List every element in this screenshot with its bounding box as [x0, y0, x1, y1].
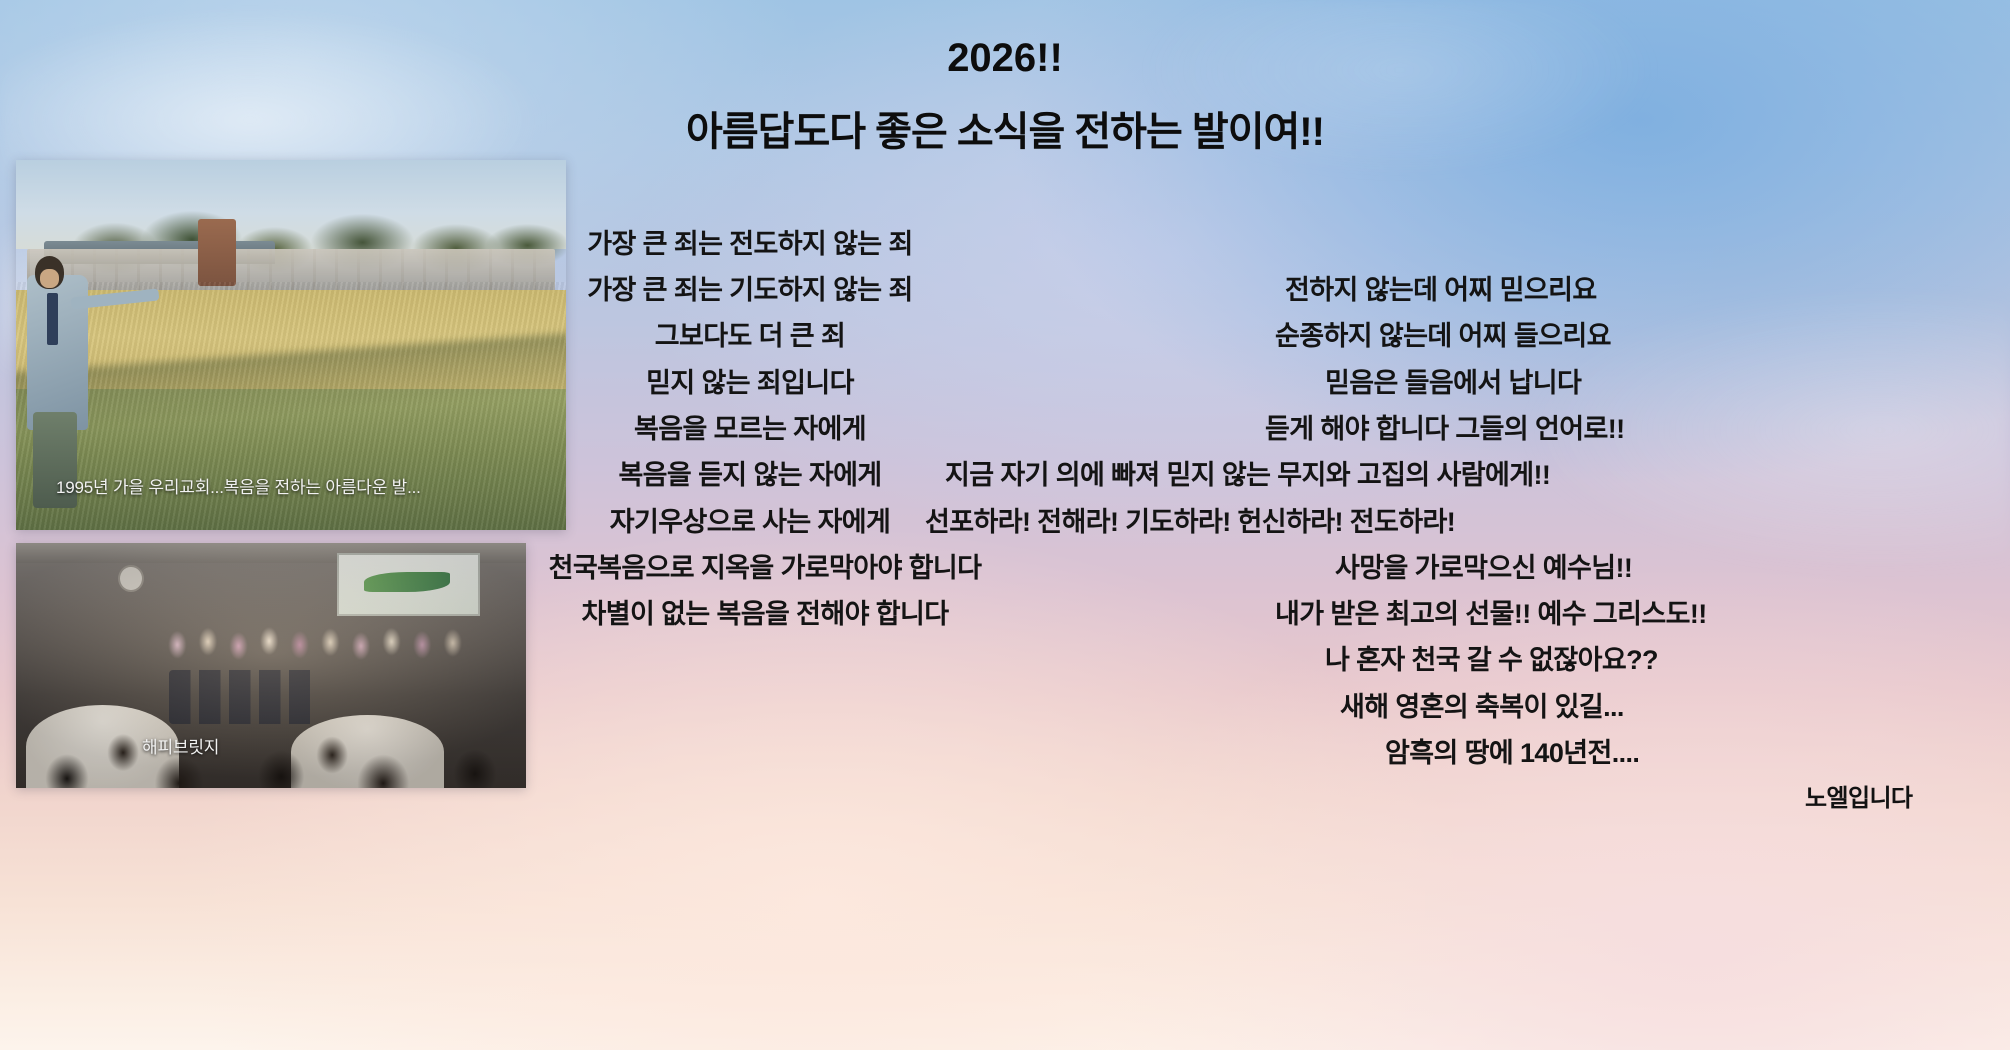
- poster-title: 2026!!: [0, 36, 2010, 81]
- left-line-7: 자기우상으로 사는 자에게: [610, 500, 890, 539]
- right-line-4: 듣게 해야 합니다 그들의 언어로!!: [1265, 407, 1625, 446]
- right-line-2: 순종하지 않는데 어찌 들으리요: [1275, 314, 1611, 353]
- left-line-4: 믿지 않는 죄입니다: [646, 361, 854, 400]
- right-line-5: 지금 자기 의에 빠져 믿지 않는 무지와 고집의 사람에게!!: [945, 453, 1550, 492]
- right-line-1: 전하지 않는데 어찌 믿으리요: [1285, 268, 1597, 307]
- left-line-6: 복음을 듣지 않는 자에게: [618, 453, 881, 492]
- left-line-9: 차별이 없는 복음을 전해야 합니다: [582, 592, 949, 631]
- left-line-8: 천국복음으로 지옥을 가로막아야 합니다: [549, 546, 982, 585]
- right-line-3: 믿음은 들음에서 납니다: [1325, 361, 1581, 400]
- right-line-9: 나 혼자 천국 갈 수 없잖아요??: [1325, 638, 1658, 677]
- right-line-6: 선포하라! 전해라! 기도하라! 헌신하라! 전도하라!: [925, 500, 1455, 539]
- left-line-1: 가장 큰 죄는 전도하지 않는 죄: [587, 222, 912, 261]
- poster-signature: 노엘입니다: [1805, 778, 1912, 813]
- right-line-8: 내가 받은 최고의 선물!! 예수 그리스도!!: [1275, 592, 1707, 631]
- left-line-3: 그보다도 더 큰 죄: [655, 314, 845, 353]
- left-line-5: 복음을 모르는 자에게: [634, 407, 866, 446]
- poster-text-content: 2026!! 아름답도다 좋은 소식을 전하는 발이여!! 가장 큰 죄는 전도…: [0, 0, 2010, 1050]
- right-line-11: 암흑의 땅에 140년전....: [1385, 731, 1639, 770]
- right-line-10: 새해 영혼의 축복이 있길...: [1340, 685, 1624, 724]
- right-line-7: 사망을 가로막으신 예수님!!: [1335, 546, 1632, 585]
- left-line-2: 가장 큰 죄는 기도하지 않는 죄: [587, 268, 912, 307]
- poster-subtitle: 아름답도다 좋은 소식을 전하는 발이여!!: [0, 99, 2010, 157]
